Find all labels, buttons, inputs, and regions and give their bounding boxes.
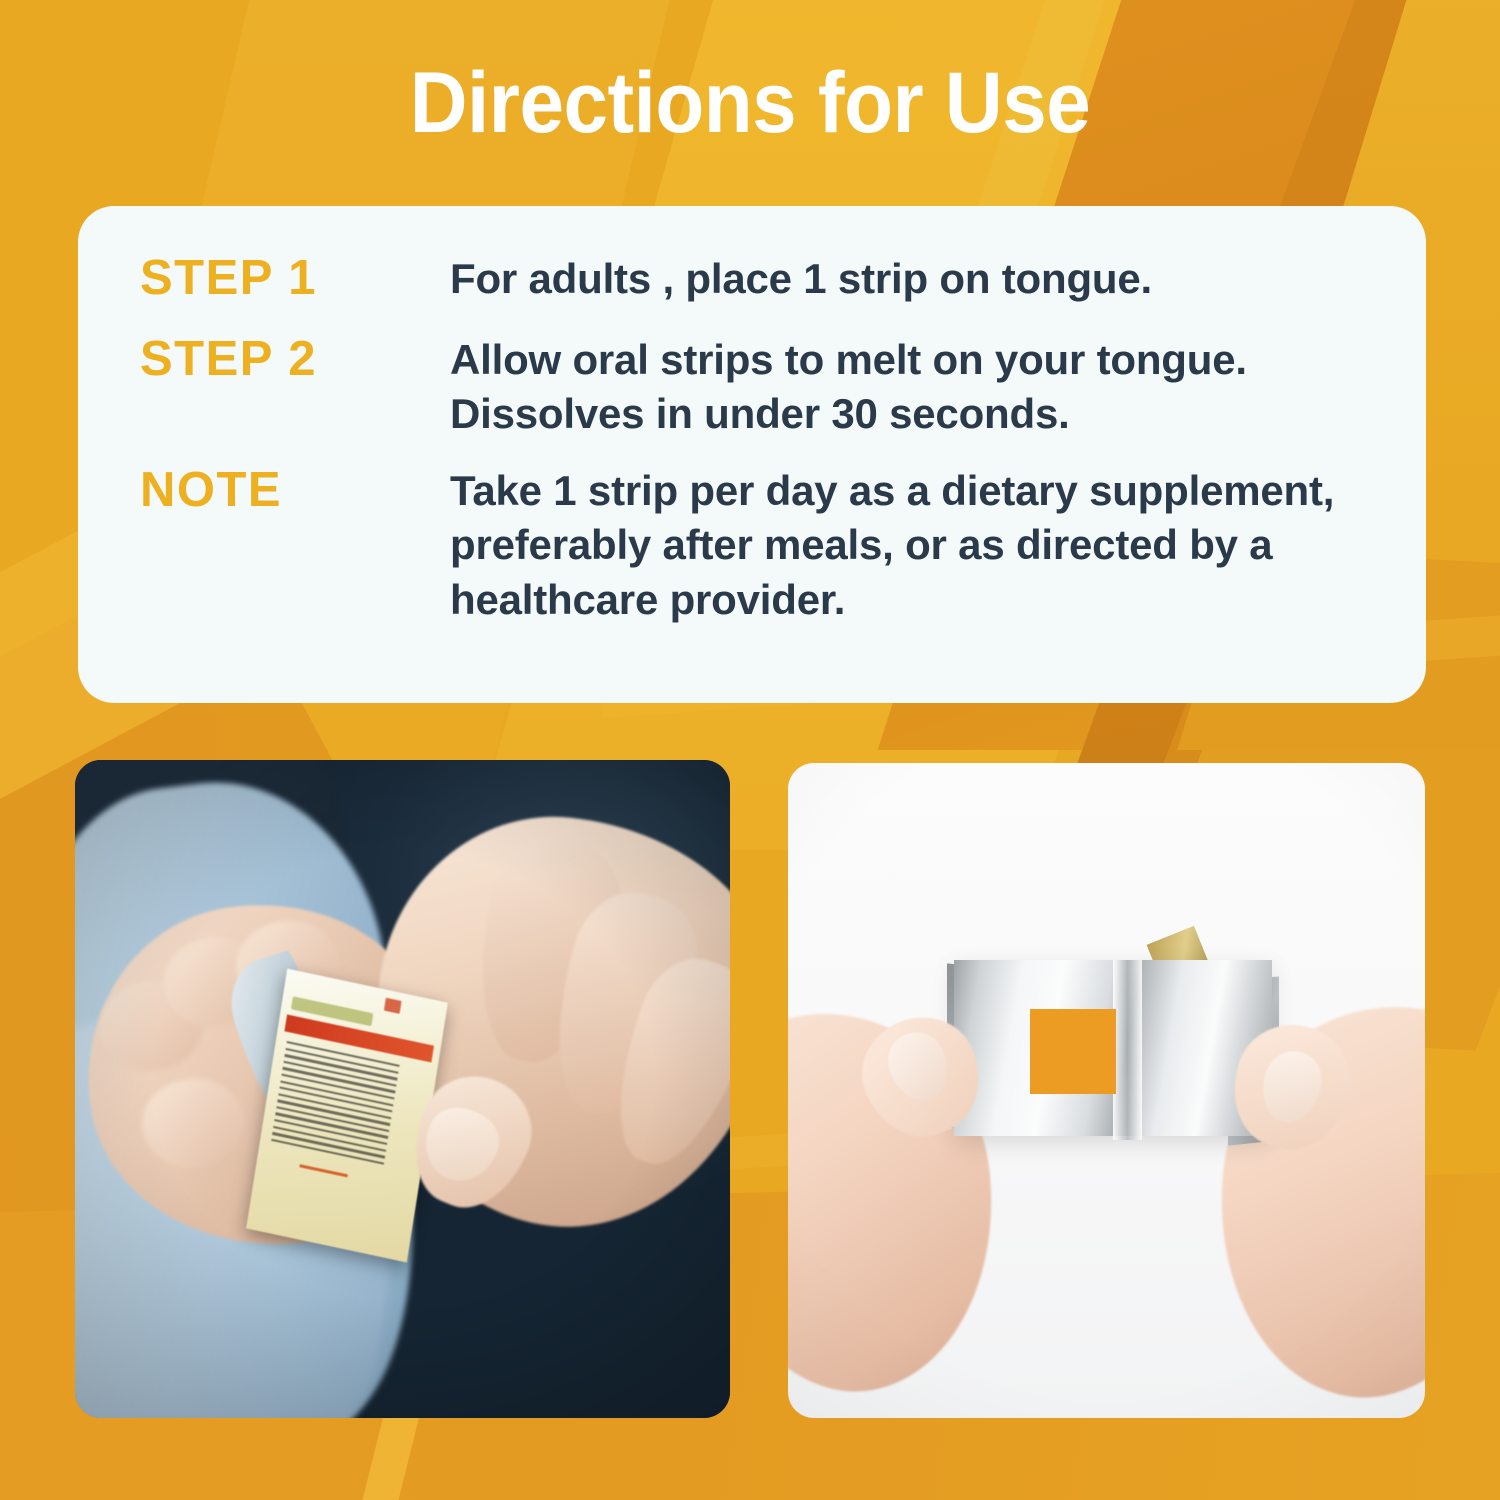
- photo-left-vignette: [75, 760, 730, 1418]
- photo-hands-peeling-foil-strip-sachet: [788, 763, 1425, 1418]
- instructions-card: STEP 1 For adults , place 1 strip on ton…: [78, 206, 1426, 703]
- photo-right-vignette: [788, 763, 1425, 1418]
- step-2-label: STEP 2: [140, 333, 450, 384]
- instruction-row-step-1: STEP 1 For adults , place 1 strip on ton…: [140, 252, 1390, 307]
- instruction-row-step-2: STEP 2 Allow oral strips to melt on your…: [140, 333, 1390, 442]
- step-1-label: STEP 1: [140, 252, 450, 303]
- note-text: Take 1 strip per day as a dietary supple…: [450, 464, 1380, 628]
- page-title: Directions for Use: [53, 54, 1448, 153]
- note-label: NOTE: [140, 464, 450, 515]
- instruction-row-note: NOTE Take 1 strip per day as a dietary s…: [140, 464, 1390, 628]
- step-1-text: For adults , place 1 strip on tongue.: [450, 252, 1152, 307]
- step-2-text: Allow oral strips to melt on your tongue…: [450, 333, 1380, 442]
- photo-hands-opening-supplement-box: [75, 760, 730, 1418]
